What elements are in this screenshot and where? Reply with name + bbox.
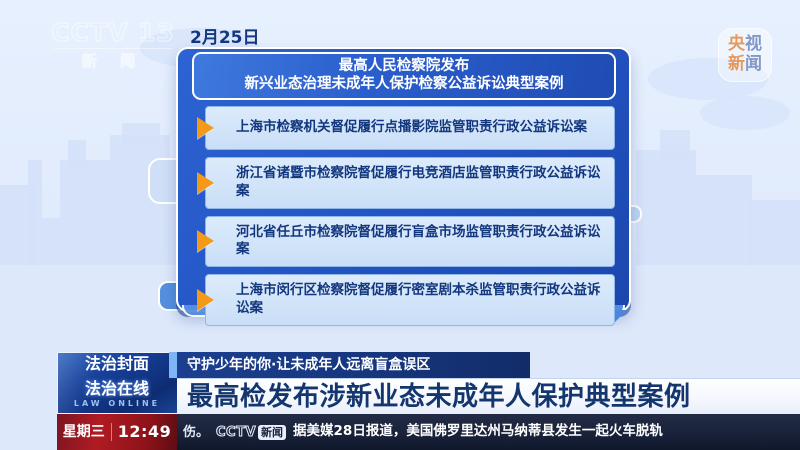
watermark-char-xin: 新 (728, 54, 745, 74)
subtitle-bar: 守护少年的你·让未成年人远离盲盒误区 (177, 352, 530, 378)
header-line-2: 新兴业态治理未成年人保护检察公益诉讼典型案例 (245, 76, 564, 93)
skyline-building (68, 140, 86, 170)
watermark-line1: 央视 (728, 36, 762, 54)
lower-third: 法治封面 法治在线 LAW ONLINE 守护少年的你·让未成年人远离盲盒误区 … (57, 352, 800, 414)
skyline-building (122, 123, 160, 143)
program-name-english: LAW ONLINE (57, 400, 177, 408)
skyline-building (694, 175, 752, 265)
case-title: 浙江省诸暨市检察院督促履行电竞酒店监管职责行政公益诉讼案 (236, 165, 606, 201)
ticker-scroll-area: 伤。 CCTV 新闻 据美媒28日报道，美国佛罗里达州马纳蒂县发生一起火车脱轨 (177, 414, 800, 450)
case-title: 河北省任丘市检察院督促履行盲盒市场监管职责行政公益诉讼案 (236, 224, 606, 260)
case-list-item: 河北省任丘市检察院督促履行盲盒市场监管职责行政公益诉讼案 (205, 216, 615, 268)
watermark-char-shi: 视 (745, 34, 762, 54)
triangle-marker-icon (197, 289, 214, 311)
triangle-marker-icon (197, 172, 214, 194)
ticker-divider (111, 423, 112, 441)
program-name: 法治在线 (57, 381, 177, 397)
ticker-left-gap (0, 414, 57, 450)
triangle-marker-icon (197, 117, 214, 139)
skyline-building (636, 150, 696, 265)
skyline-building (660, 130, 690, 160)
program-tag: 法治封面 (57, 356, 177, 372)
headline-bar: 最高检发布涉新业态未成年人保护典型案例 (177, 378, 800, 414)
triangle-marker-icon (197, 230, 214, 252)
cloud-shape (700, 96, 790, 130)
cctv13-channel-logo: CCTV 13 新 闻 (48, 20, 178, 76)
ticker-time: 12:49 (118, 424, 171, 440)
ticker-weekday: 星期三 (63, 425, 105, 439)
cctv13-logo-rule (54, 48, 172, 49)
skyline-building (748, 200, 800, 265)
watermark-char-yang: 央 (728, 34, 745, 54)
ticker-clock-block: 星期三 12:49 (57, 414, 177, 450)
graphic-date: 2月25日 (190, 30, 260, 47)
ticker-logo-cctv: CCTV (216, 426, 256, 439)
case-list-item: 浙江省诸暨市检察院督促履行电竞酒店监管职责行政公益诉讼案 (205, 157, 615, 209)
case-title: 上海市检察机关督促履行点播影院监管职责行政公益诉讼案 (236, 119, 587, 137)
cctv-news-ticker-logo: CCTV 新闻 (216, 425, 286, 440)
header-line-1: 最高人民检察院发布 (339, 58, 470, 75)
watermark-char-wen: 闻 (745, 54, 762, 74)
skyline-building (40, 218, 60, 265)
cctv13-logo-line2: 新 闻 (48, 54, 178, 69)
info-card-header: 最高人民检察院发布 新兴业态治理未成年人保护检察公益诉讼典型案例 (192, 52, 616, 100)
ticker-logo-news: 新闻 (258, 425, 286, 440)
ticker-previous-fragment: 伤。 (183, 426, 209, 439)
news-ticker: 星期三 12:49 伤。 CCTV 新闻 据美媒28日报道，美国佛罗里达州马纳蒂… (0, 414, 800, 450)
skyline-building (28, 160, 42, 265)
case-title: 上海市闵行区检察院督促履行密室剧本杀监管职责行政公益诉讼案 (236, 282, 606, 318)
ticker-headline-text: 据美媒28日报道，美国佛罗里达州马纳蒂县发生一起火车脱轨 (293, 425, 663, 439)
skyline-building (60, 160, 110, 265)
headline-text: 最高检发布涉新业态未成年人保护典型案例 (187, 384, 691, 410)
cctv-news-app-watermark: 央视 新闻 (718, 28, 772, 82)
subtitle-text: 守护少年的你·让未成年人远离盲盒误区 (187, 358, 430, 372)
case-list-item: 上海市闵行区检察院督促履行密室剧本杀监管职责行政公益诉讼案 (205, 274, 615, 326)
watermark-line2: 新闻 (728, 56, 762, 74)
case-list: 上海市检察机关督促履行点播影院监管职责行政公益诉讼案 浙江省诸暨市检察院督促履行… (205, 106, 615, 333)
cctv13-logo-line1: CCTV 13 (48, 20, 178, 45)
case-list-item: 上海市检察机关督促履行点播影院监管职责行政公益诉讼案 (205, 106, 615, 150)
broadcast-screenshot: CCTV 13 新 闻 央视 新闻 2月25日 最高人民检察院发布 新兴业态治理… (0, 0, 800, 450)
